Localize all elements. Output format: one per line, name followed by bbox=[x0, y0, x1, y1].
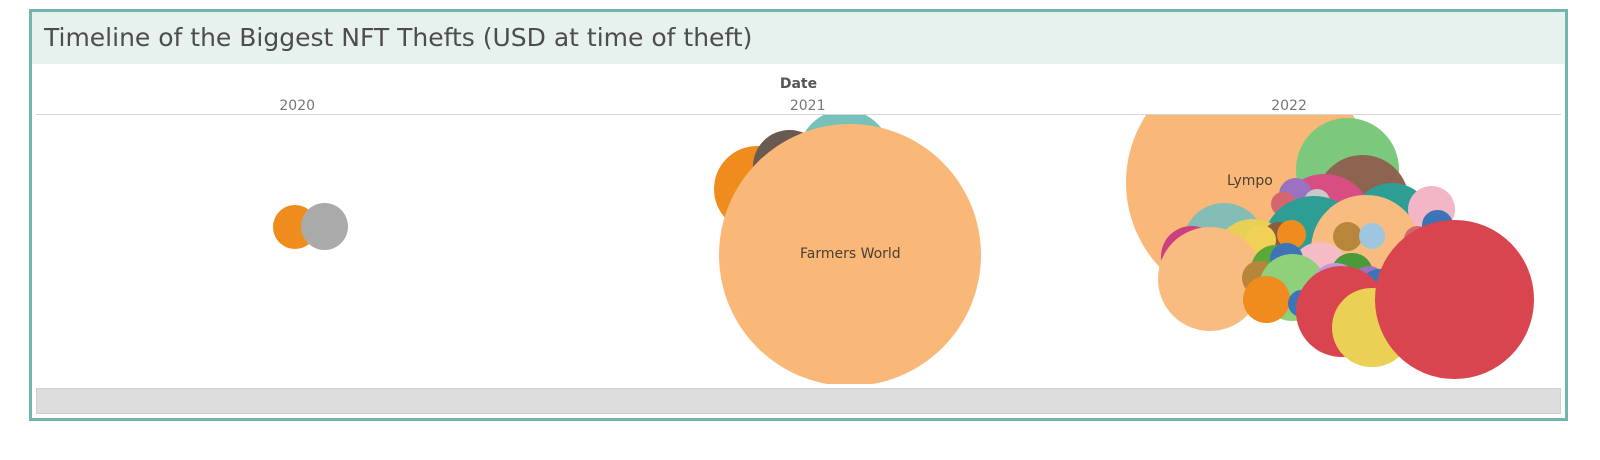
page-title: Timeline of the Biggest NFT Thefts (USD … bbox=[44, 23, 752, 52]
x-tick-2021: 2021 bbox=[790, 98, 826, 114]
horizontal-scrollbar[interactable] bbox=[36, 388, 1561, 414]
bubble-label: Farmers World bbox=[800, 247, 901, 263]
bubble[interactable] bbox=[301, 203, 348, 250]
bubble[interactable] bbox=[1359, 223, 1385, 249]
bubble-plot-area[interactable]: Farmers WorldLympo bbox=[36, 115, 1561, 384]
bubble[interactable] bbox=[1333, 222, 1362, 251]
bubble-label: Lympo bbox=[1227, 174, 1273, 190]
bubble[interactable] bbox=[1243, 276, 1290, 323]
x-tick-2020: 2020 bbox=[279, 98, 315, 114]
x-tick-2022: 2022 bbox=[1271, 98, 1307, 114]
x-axis-header: Date 202020212022 bbox=[32, 64, 1565, 114]
panel-title-bar: Timeline of the Biggest NFT Thefts (USD … bbox=[32, 12, 1565, 64]
visualization-panel: Timeline of the Biggest NFT Thefts (USD … bbox=[29, 9, 1568, 421]
bubble[interactable] bbox=[1375, 220, 1534, 379]
x-axis-title: Date bbox=[32, 76, 1565, 92]
bubble[interactable]: Farmers World bbox=[719, 124, 981, 384]
